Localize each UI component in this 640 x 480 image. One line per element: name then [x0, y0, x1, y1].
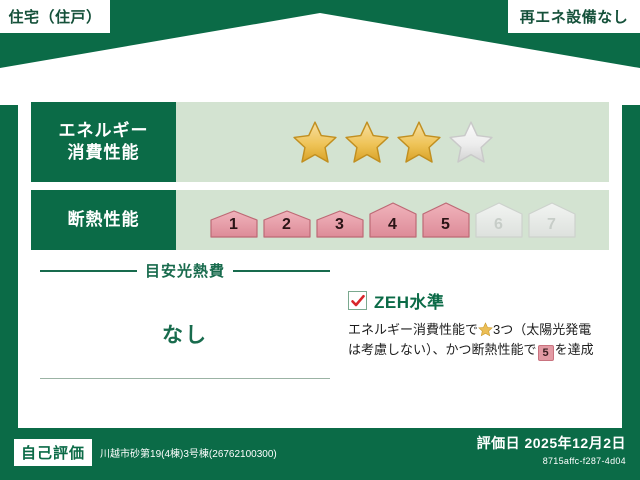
insulation-grade-value: 4 [368, 216, 418, 234]
energy-performance-row: エネルギー 消費性能 [31, 102, 609, 182]
insulation-grade-2: 2 [262, 210, 312, 238]
insulation-grade-6: 6 [474, 202, 524, 238]
insulation-grade-4: 4 [368, 202, 418, 238]
insulation-grade-value: 7 [527, 216, 577, 234]
inline-star-icon [478, 322, 493, 337]
footer-left: 自己評価 川越市砂第19(4棟)3号棟(26762100300) [14, 439, 277, 466]
insulation-grade-5: 5 [421, 202, 471, 238]
rule-right [233, 270, 330, 272]
label-title-block: 建築物省エネ法に基づく 省エネ性能ラベル [0, 38, 640, 86]
self-evaluation-badge: 自己評価 [14, 439, 92, 466]
zeh-description: エネルギー消費性能で3つ（太陽光発電 は考慮しない）、かつ断熱性能で5を達成 [348, 320, 612, 361]
energy-performance-label: 住宅（住戸） 再エネ設備なし 建築物省エネ法に基づく 省エネ性能ラベル エネルギ… [0, 0, 640, 480]
energy-label-line1: エネルギー [59, 120, 149, 142]
check-icon [350, 293, 366, 309]
star-empty-icon [449, 120, 493, 164]
star-rating [293, 120, 493, 164]
rule-left [40, 270, 137, 272]
insulation-grade-scale: 1234567 [209, 202, 577, 238]
insulation-grade-value: 1 [209, 216, 259, 234]
insulation-grade-value: 6 [474, 216, 524, 234]
star-filled-icon [397, 120, 441, 164]
footer-right: 評価日 2025年12月2日 8715affc-f287-4d04 [477, 433, 626, 466]
star-filled-icon [293, 120, 337, 164]
zeh-desc-star-count: 3つ（太陽光発電 [493, 322, 591, 337]
insulation-grade-1: 1 [209, 210, 259, 238]
zeh-desc-part1: エネルギー消費性能で [348, 322, 478, 337]
insulation-label: 断熱性能 [68, 209, 140, 231]
zeh-desc-part2: は考慮しない）、かつ断熱性能で [348, 342, 537, 357]
insulation-performance-row: 断熱性能 1234567 [31, 190, 609, 250]
title-subtitle: 建築物省エネ法に基づく [0, 38, 640, 54]
utility-cost-underline [40, 378, 330, 379]
label-card: エネルギー 消費性能 断熱性能 1234567 目安光熱費 なし [18, 88, 622, 428]
zeh-desc-part3: を達成 [555, 342, 594, 357]
insulation-grade-7: 7 [527, 202, 577, 238]
zeh-checkbox[interactable] [348, 291, 367, 310]
insulation-grade-value: 2 [262, 216, 312, 234]
tab-building-type[interactable]: 住宅（住戸） [0, 0, 110, 33]
insulation-grade-value: 3 [315, 216, 365, 234]
energy-performance-value-cell [176, 102, 609, 182]
utility-cost-heading-text: 目安光熱費 [145, 260, 225, 281]
insulation-grade-3: 3 [315, 210, 365, 238]
property-address: 川越市砂第19(4棟)3号棟(26762100300) [100, 445, 277, 460]
tab-renewable-energy[interactable]: 再エネ設備なし [508, 0, 640, 33]
energy-label-line2: 消費性能 [68, 142, 140, 164]
zeh-block: ZEH水準 エネルギー消費性能で3つ（太陽光発電 は考慮しない）、かつ断熱性能で… [348, 288, 612, 361]
insulation-performance-label-cell: 断熱性能 [31, 190, 176, 250]
document-id: 8715affc-f287-4d04 [477, 456, 626, 466]
evaluation-date: 評価日 2025年12月2日 [477, 433, 626, 453]
zeh-title: ZEH水準 [374, 288, 445, 313]
utility-cost-heading: 目安光熱費 [40, 260, 330, 281]
energy-performance-label-cell: エネルギー 消費性能 [31, 102, 176, 182]
insulation-grade-value: 5 [421, 216, 471, 234]
utility-cost-block: 目安光熱費 なし [40, 260, 330, 349]
zeh-desc-grade-badge: 5 [538, 345, 554, 361]
zeh-heading: ZEH水準 [348, 288, 612, 313]
page-title: 省エネ性能ラベル [0, 55, 640, 86]
utility-cost-value: なし [40, 319, 330, 349]
insulation-performance-value-cell: 1234567 [176, 190, 609, 250]
star-filled-icon [345, 120, 389, 164]
